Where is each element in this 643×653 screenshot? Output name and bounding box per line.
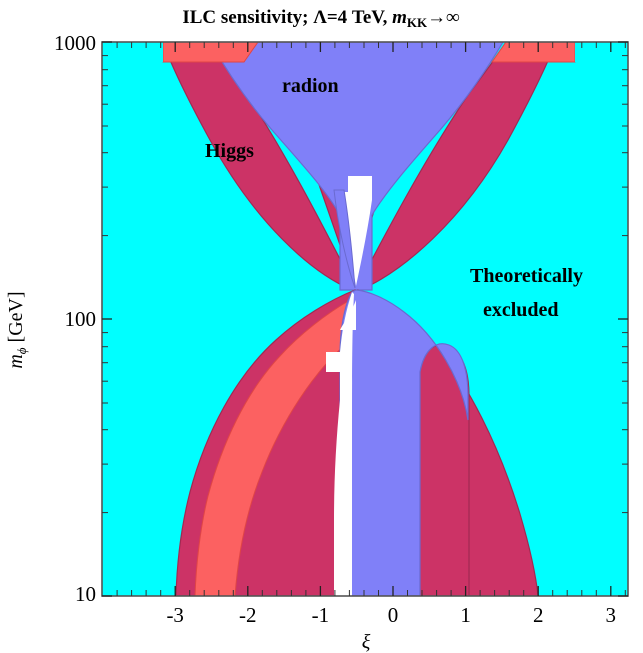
label-radion: radion [282, 75, 339, 97]
svg-text:mϕ [GeV]: mϕ [GeV] [5, 291, 29, 368]
region-overlap-top-left [163, 42, 258, 62]
x-tick-label: 3 [606, 603, 617, 627]
x-tick-label: -2 [239, 603, 257, 627]
y-tick-label: 10 [75, 582, 96, 606]
top-right-cyan-strip [575, 42, 628, 62]
label-higgs: Higgs [205, 140, 254, 162]
plot-figure: ILC sensitivity; Λ=4 TeV, mKK→∞ [0, 0, 643, 653]
x-axis-label: ξ [362, 631, 371, 653]
y-tick-label: 100 [65, 307, 97, 331]
label-theoretically-excluded-line2: excluded [483, 299, 559, 321]
y-axis-label: mϕ [GeV] [5, 291, 29, 368]
x-tick-label: 0 [388, 603, 399, 627]
x-tick-label: -1 [312, 603, 330, 627]
x-tick-label: -3 [166, 603, 184, 627]
label-theoretically-excluded-line1: Theoretically [470, 265, 583, 287]
y-tick-label: 1000 [54, 31, 96, 55]
plot-svg: ILC sensitivity; Λ=4 TeV, mKK→∞ [0, 0, 643, 653]
top-left-cyan-strip [102, 42, 163, 62]
x-tick-label: 2 [533, 603, 544, 627]
x-tick-label: 1 [460, 603, 471, 627]
region-overlap-top-right [492, 42, 575, 62]
